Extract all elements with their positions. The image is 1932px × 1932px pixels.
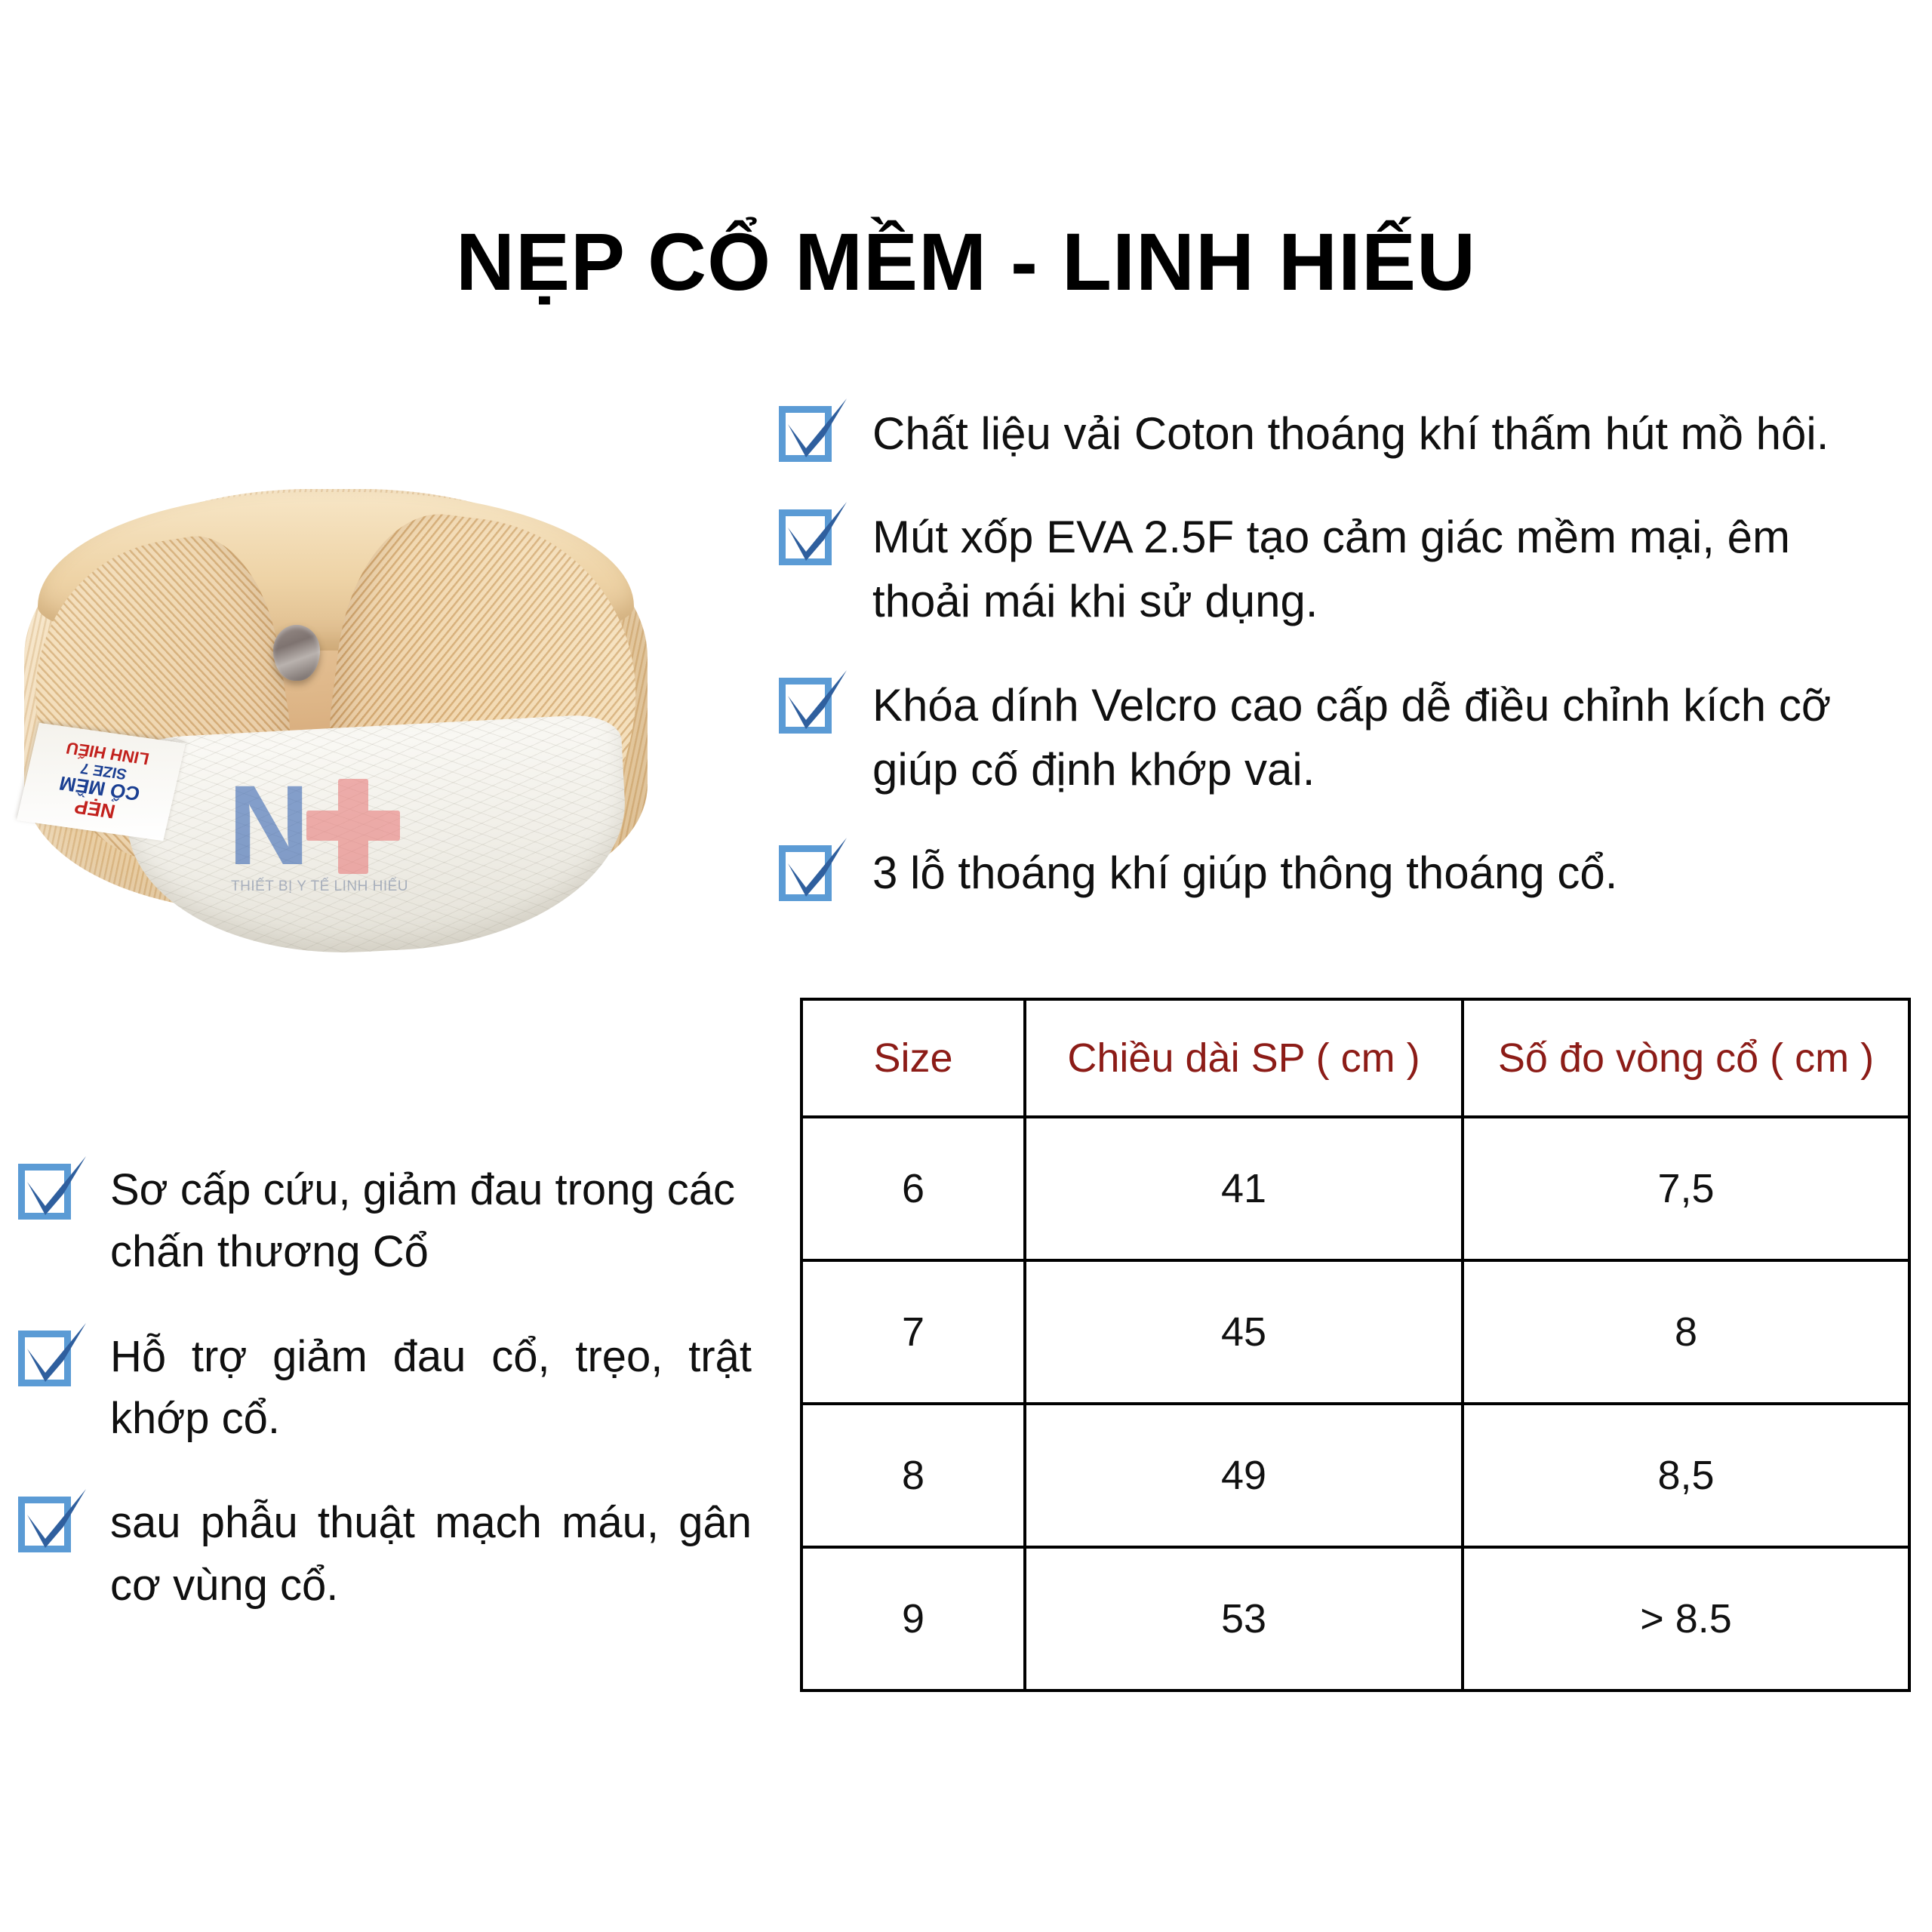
cell-size: 8	[801, 1404, 1025, 1547]
cell-length: 53	[1025, 1547, 1463, 1690]
cell-circumference: 7,5	[1463, 1117, 1909, 1260]
infographic-page: NẸP CỔ MỀM - LINH HIẾU N THIẾT BỊ Y TẾ L…	[0, 0, 1932, 1932]
cell-length: 49	[1025, 1404, 1463, 1547]
column-header-circumference: Số đo vòng cổ ( cm )	[1463, 999, 1909, 1117]
cervical-collar-illustration: N THIẾT BỊ Y TẾ LINH HIẾU NẸP CỔ MỀM SIZ…	[8, 430, 664, 958]
checkbox-checked-icon	[17, 1159, 80, 1223]
checkbox-checked-icon	[777, 505, 841, 568]
checkbox-checked-icon	[777, 401, 841, 465]
table-row: 7 45 8	[801, 1260, 1909, 1404]
cell-size: 7	[801, 1260, 1025, 1404]
usecase-text: Hỗ trợ giảm đau cổ, trẹo, trật khớp cổ.	[110, 1326, 752, 1451]
checkbox-checked-icon	[17, 1492, 80, 1555]
feature-list-left: Sơ cấp cứu, giảm đau trong các chấn thươ…	[17, 1159, 771, 1659]
feature-text: Khóa dính Velcro cao cấp dễ điều chỉnh k…	[872, 673, 1899, 801]
cell-size: 6	[801, 1117, 1025, 1260]
cell-length: 45	[1025, 1260, 1463, 1404]
table-header-row: Size Chiều dài SP ( cm ) Số đo vòng cổ (…	[801, 999, 1909, 1117]
checkbox-checked-icon	[777, 841, 841, 904]
cell-circumference: 8,5	[1463, 1404, 1909, 1547]
list-item: Chất liệu vải Coton thoáng khí thấm hút …	[777, 401, 1909, 466]
cell-size: 9	[801, 1547, 1025, 1690]
velcro-strap-texture	[123, 713, 632, 964]
usecase-text: sau phẫu thuật mạch máu, gân cơ vùng cổ.	[110, 1492, 752, 1617]
product-hang-tag-text: NẸP CỔ MỀM SIZE 7 LINH HIẾU	[17, 723, 186, 841]
list-item: sau phẫu thuật mạch máu, gân cơ vùng cổ.	[17, 1492, 771, 1617]
page-title: NẸP CỔ MỀM - LINH HIẾU	[0, 217, 1932, 307]
cell-circumference: > 8.5	[1463, 1547, 1909, 1690]
list-item: Mút xốp EVA 2.5F tạo cảm giác mềm mại, ê…	[777, 505, 1909, 633]
feature-text: Chất liệu vải Coton thoáng khí thấm hút …	[872, 401, 1829, 466]
metal-snap-button-icon	[273, 625, 320, 681]
list-item: 3 lỗ thoáng khí giúp thông thoáng cổ.	[777, 841, 1909, 905]
usecase-text: Sơ cấp cứu, giảm đau trong các chấn thươ…	[110, 1159, 752, 1284]
feature-text: 3 lỗ thoáng khí giúp thông thoáng cổ.	[872, 841, 1617, 905]
column-header-length: Chiều dài SP ( cm )	[1025, 999, 1463, 1117]
product-image: N THIẾT BỊ Y TẾ LINH HIẾU NẸP CỔ MỀM SIZ…	[8, 430, 664, 958]
table-row: 9 53 > 8.5	[801, 1547, 1909, 1690]
checkbox-checked-icon	[777, 673, 841, 737]
cell-circumference: 8	[1463, 1260, 1909, 1404]
table-row: 6 41 7,5	[801, 1117, 1909, 1260]
cell-length: 41	[1025, 1117, 1463, 1260]
feature-text: Mút xốp EVA 2.5F tạo cảm giác mềm mại, ê…	[872, 505, 1899, 633]
list-item: Khóa dính Velcro cao cấp dễ điều chỉnh k…	[777, 673, 1909, 801]
list-item: Sơ cấp cứu, giảm đau trong các chấn thươ…	[17, 1159, 771, 1284]
checkbox-checked-icon	[17, 1326, 80, 1389]
list-item: Hỗ trợ giảm đau cổ, trẹo, trật khớp cổ.	[17, 1326, 771, 1451]
size-chart-table: Size Chiều dài SP ( cm ) Số đo vòng cổ (…	[800, 998, 1911, 1692]
column-header-size: Size	[801, 999, 1025, 1117]
table-row: 8 49 8,5	[801, 1404, 1909, 1547]
feature-list-right: Chất liệu vải Coton thoáng khí thấm hút …	[777, 401, 1909, 944]
